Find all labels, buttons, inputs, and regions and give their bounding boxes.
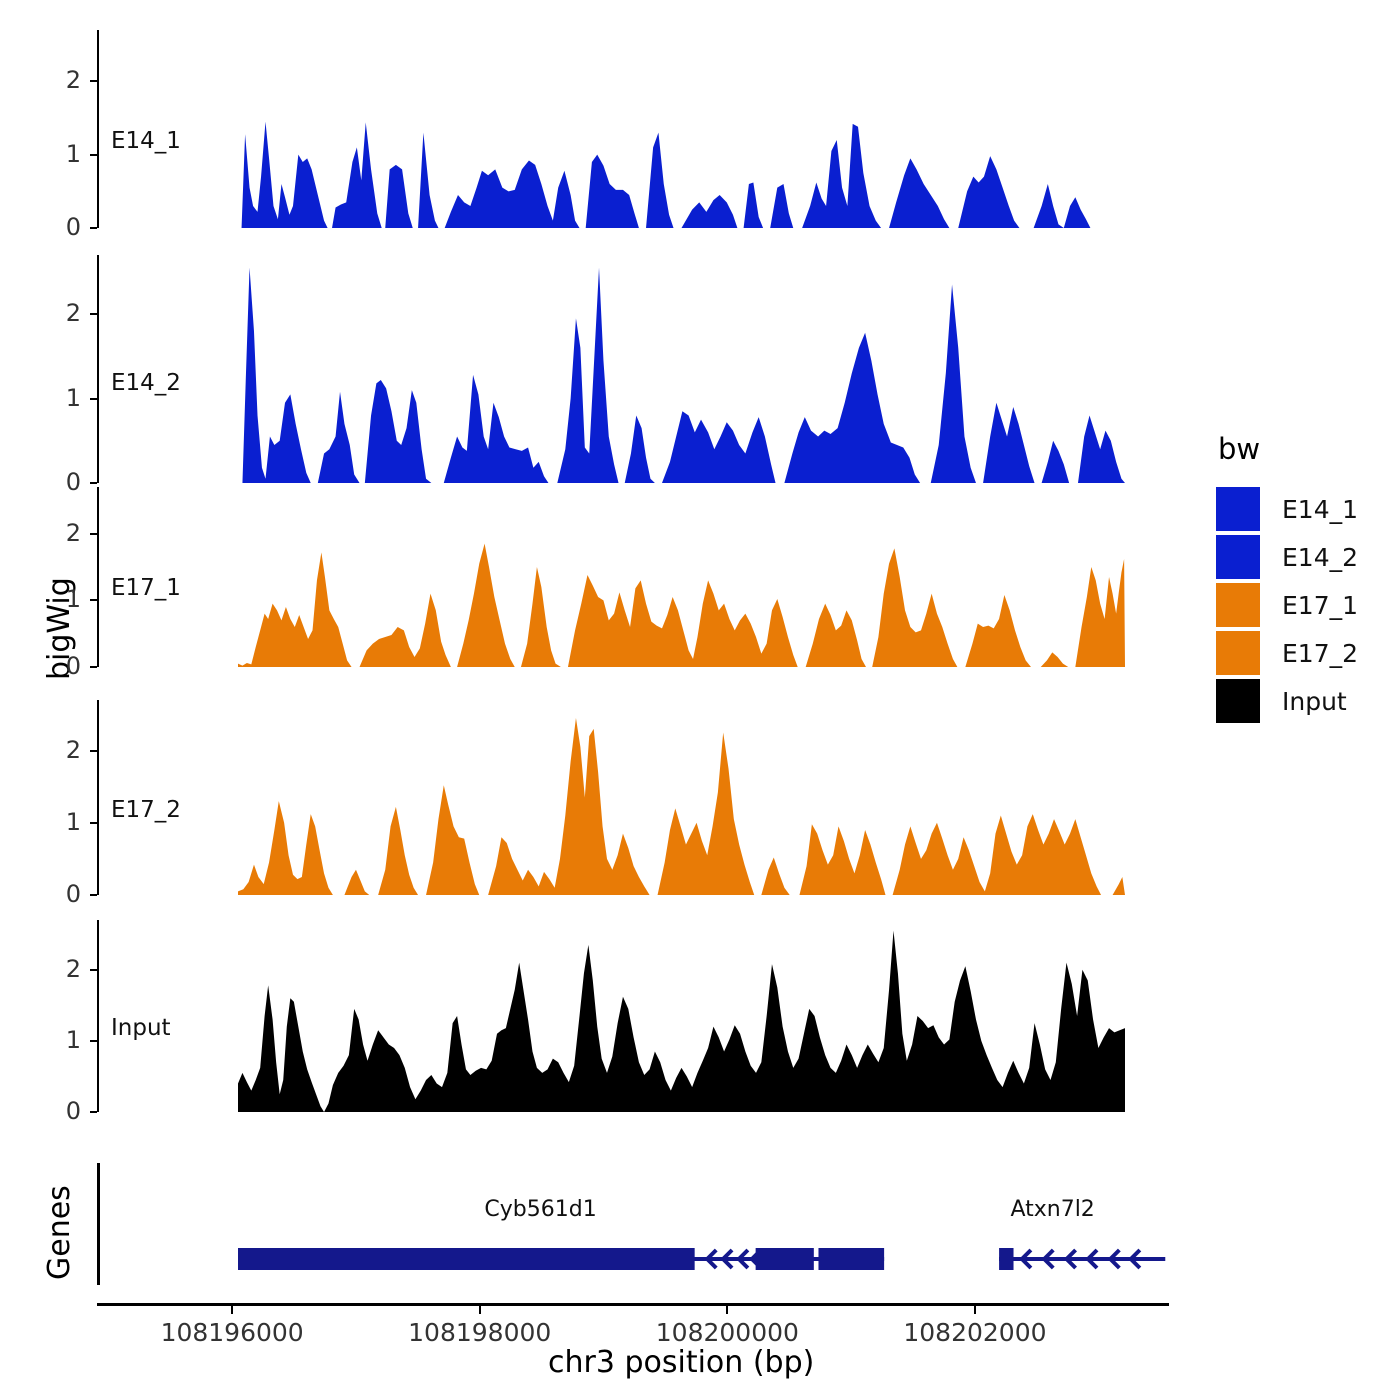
- y-tick-label: 1: [21, 1028, 81, 1052]
- y-tick-label: 1: [21, 142, 81, 166]
- y-tick: [90, 313, 97, 315]
- y-tick: [90, 398, 97, 400]
- signal-area-e17_2: [238, 700, 1125, 895]
- track-label-e17_2: E17_2: [111, 797, 181, 823]
- y-tick-label: 0: [21, 654, 81, 678]
- track-panel-e14_2: 012E14_2: [97, 255, 1125, 483]
- legend: bw E14_1E14_2E17_1E17_2Input: [1216, 432, 1396, 726]
- y-tick: [90, 482, 97, 484]
- track-label-input: Input: [111, 1015, 171, 1041]
- y-tick-label: 0: [21, 882, 81, 906]
- x-tick: [726, 1303, 728, 1314]
- x-axis-line: [97, 1303, 1169, 1306]
- y-tick-label: 1: [21, 810, 81, 834]
- legend-swatch: [1216, 583, 1260, 627]
- gene-models: Cyb561d1Atxn7l2: [238, 1163, 1169, 1289]
- y-tick: [90, 894, 97, 896]
- y-axis-line: [97, 920, 99, 1112]
- legend-item-input[interactable]: Input: [1216, 678, 1396, 724]
- x-tick: [479, 1303, 481, 1314]
- y-axis-line: [97, 487, 99, 667]
- y-tick-label: 1: [21, 386, 81, 410]
- gene-label-cyb561d1: Cyb561d1: [484, 1197, 596, 1222]
- y-tick: [90, 822, 97, 824]
- legend-swatch: [1216, 487, 1260, 531]
- x-tick-label: 108200000: [656, 1318, 799, 1347]
- track-panel-input: 012Input: [97, 920, 1125, 1112]
- y-tick: [90, 154, 97, 156]
- signal-area-e14_2: [238, 255, 1125, 483]
- legend-swatch: [1216, 679, 1260, 723]
- track-label-e14_1: E14_1: [111, 128, 181, 154]
- legend-item-label: E14_1: [1282, 495, 1358, 524]
- y-tick: [90, 1040, 97, 1042]
- legend-item-e17_2[interactable]: E17_2: [1216, 630, 1396, 676]
- legend-swatch: [1216, 631, 1260, 675]
- y-tick-label: 2: [21, 521, 81, 545]
- y-axis-line: [97, 255, 99, 483]
- y-tick: [90, 80, 97, 82]
- track-panel-e14_1: 012E14_1: [97, 30, 1125, 228]
- legend-item-e17_1[interactable]: E17_1: [1216, 582, 1396, 628]
- y-tick-label: 0: [21, 1099, 81, 1123]
- signal-area-e14_1: [238, 30, 1125, 228]
- y-axis-line: [97, 700, 99, 895]
- y-tick: [90, 666, 97, 668]
- y-tick-label: 0: [21, 215, 81, 239]
- legend-item-label: E14_2: [1282, 543, 1358, 572]
- y-tick: [90, 969, 97, 971]
- x-tick: [231, 1303, 233, 1314]
- gene-label-atxn7l2: Atxn7l2: [1010, 1197, 1094, 1222]
- track-label-e17_1: E17_1: [111, 575, 181, 601]
- legend-item-label: E17_2: [1282, 639, 1358, 668]
- y-tick-label: 2: [21, 68, 81, 92]
- y-tick: [90, 750, 97, 752]
- legend-item-e14_1[interactable]: E14_1: [1216, 486, 1396, 532]
- y-tick-label: 2: [21, 957, 81, 981]
- x-tick-label: 108196000: [161, 1318, 304, 1347]
- signal-area-input: [238, 920, 1125, 1112]
- y-axis-line: [97, 30, 99, 228]
- y-tick-label: 2: [21, 738, 81, 762]
- genes-axis-title: Genes: [42, 1185, 77, 1280]
- y-tick: [90, 599, 97, 601]
- legend-items: E14_1E14_2E17_1E17_2Input: [1216, 486, 1396, 724]
- x-tick: [974, 1303, 976, 1314]
- signal-area-e17_1: [238, 487, 1125, 667]
- genes-axis-line: [97, 1163, 100, 1285]
- track-label-e14_2: E14_2: [111, 370, 181, 396]
- track-panel-e17_2: 012E17_2: [97, 700, 1125, 895]
- track-panel-e17_1: 012E17_1: [97, 487, 1125, 667]
- y-tick-label: 1: [21, 587, 81, 611]
- y-tick: [90, 533, 97, 535]
- y-tick-label: 2: [21, 301, 81, 325]
- legend-item-label: E17_1: [1282, 591, 1358, 620]
- y-tick: [90, 1111, 97, 1113]
- x-tick-label: 108202000: [903, 1318, 1046, 1347]
- legend-swatch: [1216, 535, 1260, 579]
- legend-item-e14_2[interactable]: E14_2: [1216, 534, 1396, 580]
- legend-item-label: Input: [1282, 687, 1347, 716]
- y-tick-label: 0: [21, 470, 81, 494]
- x-axis-title: chr3 position (bp): [548, 1345, 814, 1380]
- legend-title: bw: [1218, 432, 1396, 466]
- y-tick: [90, 227, 97, 229]
- x-tick-label: 108198000: [408, 1318, 551, 1347]
